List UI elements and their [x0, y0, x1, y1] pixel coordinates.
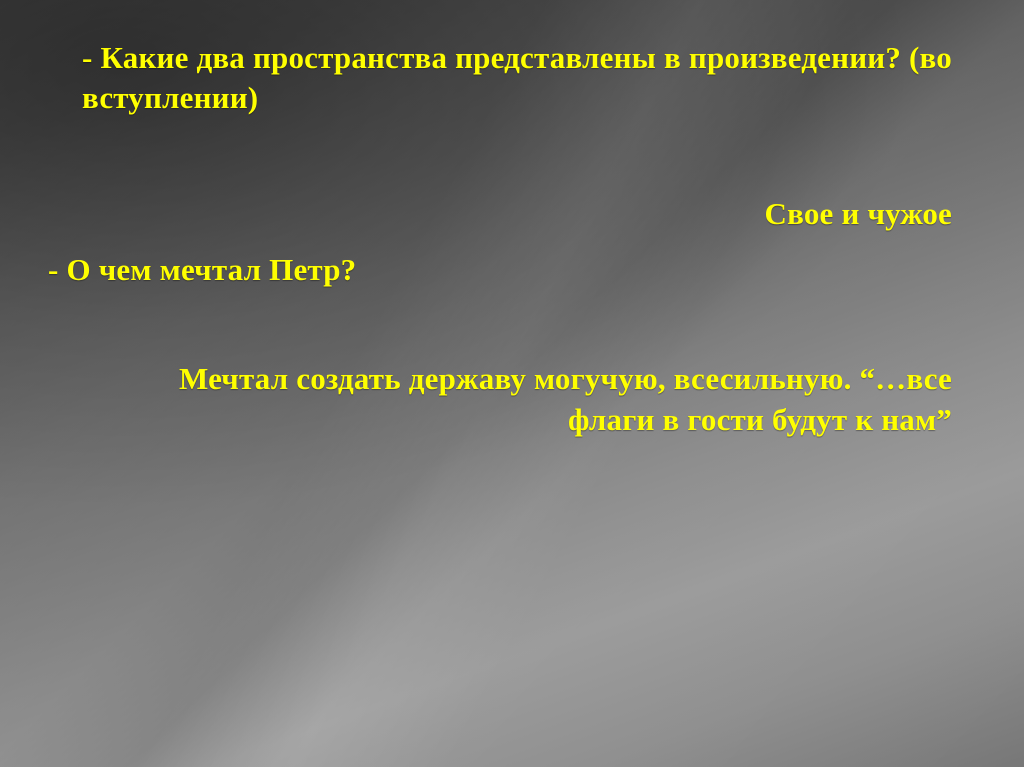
answer-two-text: Мечтал создать державу могучую, всесильн… [120, 358, 952, 440]
presentation-slide: - Какие два пространства представлены в … [0, 0, 1024, 767]
question-one-text: - Какие два пространства представлены в … [48, 38, 962, 119]
answer-one-text: Свое и чужое [765, 196, 952, 232]
question-two-text: - О чем мечтал Петр? [48, 252, 356, 288]
